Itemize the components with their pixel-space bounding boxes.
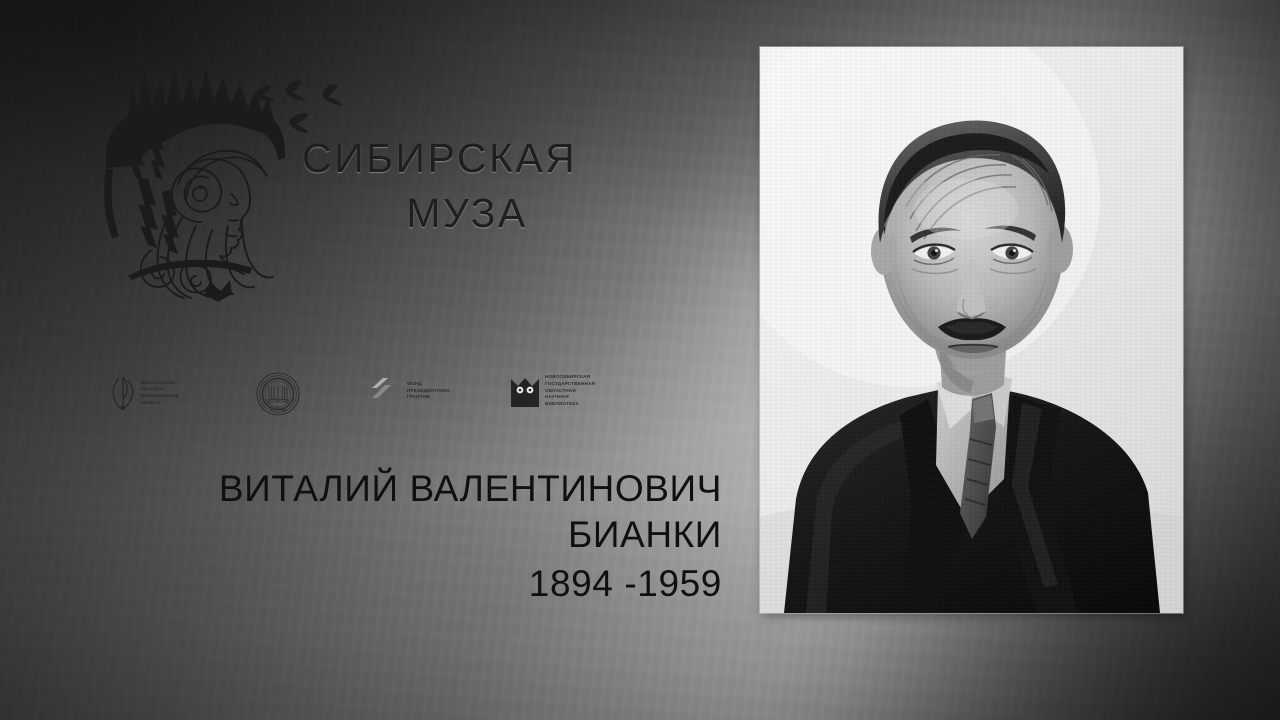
partner-logo-presidential-grants-fund[interactable]: ФОНД ПРЕЗИДЕНТСКИХ ГРАНТОВ (370, 376, 450, 406)
brand-title-line-2: МУЗА (300, 179, 630, 234)
presentation-slide: СИБИРСКАЯ МУЗА Министерство культуры Нов… (0, 0, 1280, 720)
partner-logo-ministry-of-culture[interactable]: Министерство культуры Новосибирской обла… (110, 375, 178, 411)
brand-title-line-1: СИБИРСКАЯ (300, 138, 630, 179)
portrait-photo-frame (760, 47, 1183, 613)
partner-logo-label: ФОНД ПРЕЗИДЕНТСКИХ ГРАНТОВ (407, 381, 450, 401)
brand-logo-block: СИБИРСКАЯ МУЗА (92, 50, 632, 310)
partner-logo-regional-library[interactable]: НОВОСИБИРСКАЯ ГОСУДАРСТВЕННАЯ ОБЛАСТНАЯ … (510, 373, 595, 409)
brand-wordmark: СИБИРСКАЯ МУЗА (300, 138, 630, 234)
person-years: 1894 -1959 (120, 558, 722, 610)
ministry-culture-flame-icon (110, 375, 136, 411)
partner-logo-label: Министерство культуры Новосибирской обла… (141, 380, 178, 407)
presidential-grants-fund-icon (370, 376, 402, 406)
person-name: ВИТАЛИЙ ВАЛЕНТИНОВИЧ БИАНКИ (120, 466, 722, 558)
library-seal-icon: НГОНБ (256, 372, 300, 416)
portrait-photograph (760, 47, 1183, 613)
partner-logos-strip: Министерство культуры Новосибирской обла… (108, 371, 628, 423)
partner-logo-ngonb-seal[interactable]: НГОНБ (256, 372, 300, 416)
partner-logo-label: НГОНБ (270, 406, 285, 411)
slide-caption: ВИТАЛИЙ ВАЛЕНТИНОВИЧ БИАНКИ 1894 -1959 (120, 466, 722, 610)
owl-book-icon (510, 373, 540, 409)
partner-logo-label: НОВОСИБИРСКАЯ ГОСУДАРСТВЕННАЯ ОБЛАСТНАЯ … (545, 374, 595, 407)
